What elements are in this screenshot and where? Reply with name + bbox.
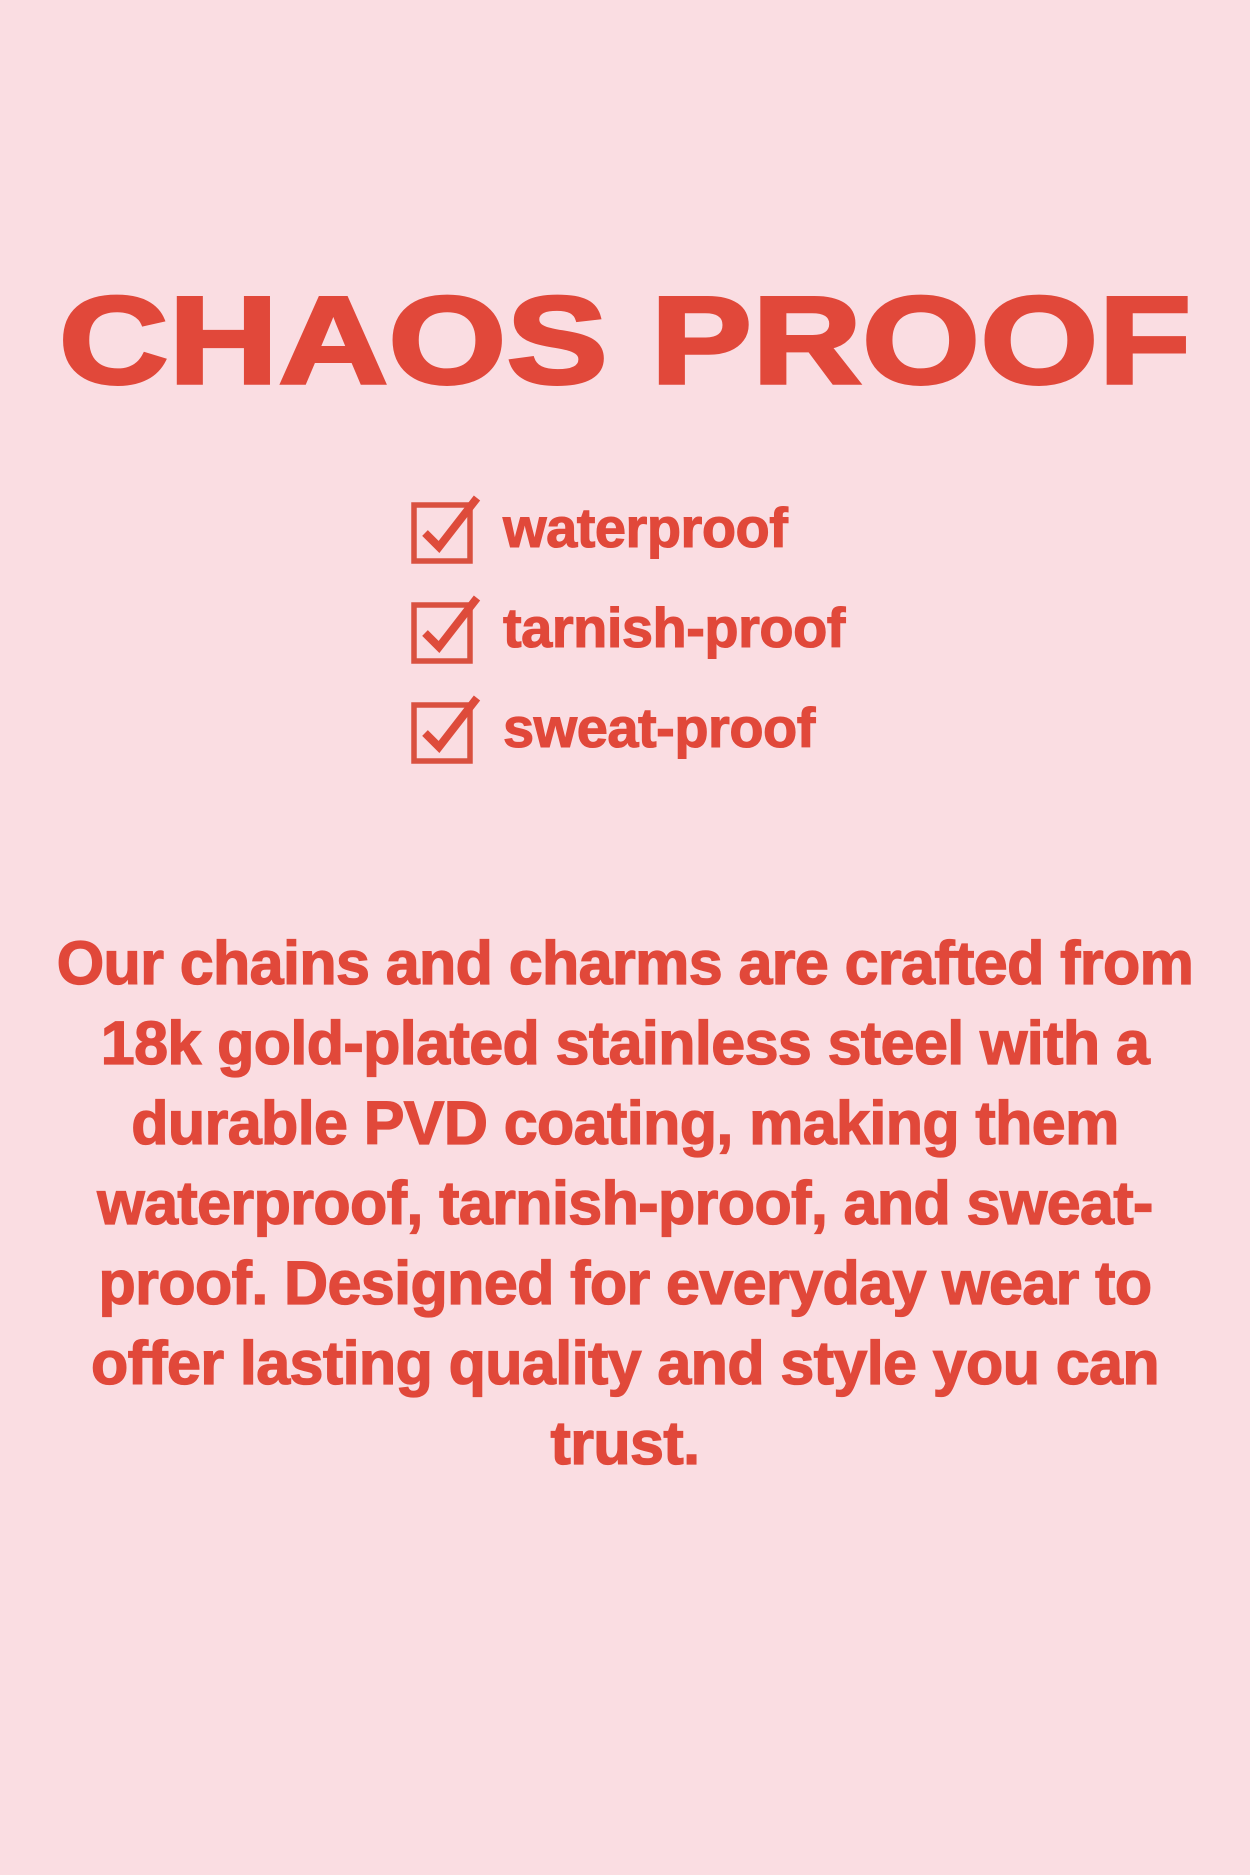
feature-checklist-inner: waterproof tarnish-proof sweat-proof [405,478,845,778]
list-item-label: tarnish-proof [503,600,845,656]
list-item: sweat-proof [405,678,815,778]
list-item: waterproof [405,478,787,578]
checkbox-checked-icon [405,586,489,670]
description-paragraph: Our chains and charms are crafted from 1… [50,923,1200,1483]
list-item-label: sweat-proof [503,700,815,756]
headline-container: CHAOS PROOF [0,196,1250,486]
feature-checklist: waterproof tarnish-proof sweat-proof [0,478,1250,778]
page-title: CHAOS PROOF [59,279,1192,403]
list-item: tarnish-proof [405,578,845,678]
checkbox-checked-icon [405,686,489,770]
checkbox-checked-icon [405,486,489,570]
chaos-proof-poster: CHAOS PROOF waterproof tarnish-proof [0,0,1250,1875]
list-item-label: waterproof [503,500,787,556]
